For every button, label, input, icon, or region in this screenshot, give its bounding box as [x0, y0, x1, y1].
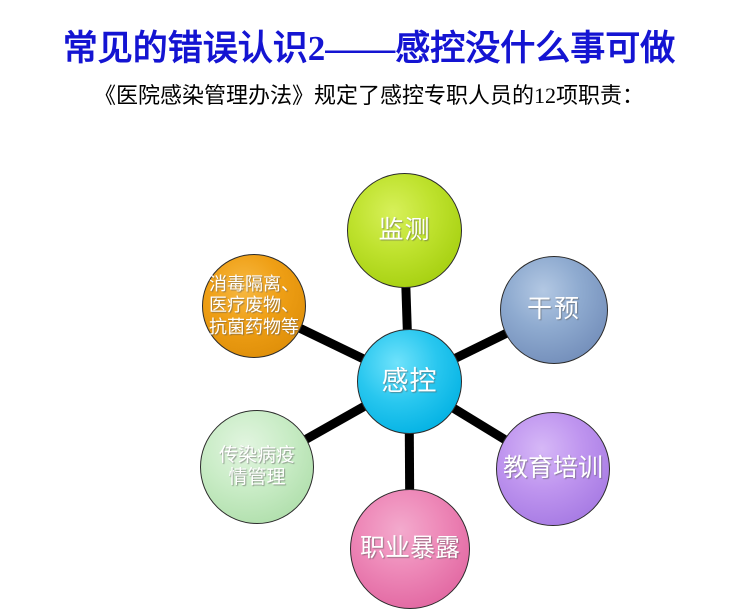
node-intervention[interactable]: 干预: [500, 256, 608, 364]
node-infectious-disease-management[interactable]: 传染病疫情管理: [200, 410, 314, 524]
node-monitoring[interactable]: 监测: [347, 173, 462, 288]
node-occupational-exposure[interactable]: 职业暴露: [350, 489, 470, 609]
node-disinfection-waste-antibiotics[interactable]: 消毒隔离、医疗废物、抗菌药物等: [202, 254, 306, 358]
hub-and-spoke-diagram: 监测 干预 教育培训 职业暴露 传染病疫情管理 消毒隔离、医疗废物、抗菌药物等 …: [0, 0, 738, 612]
node-center-infection-control-label: 感控: [382, 366, 438, 398]
node-occupational-exposure-label: 职业暴露: [360, 534, 460, 564]
node-intervention-label: 干预: [527, 295, 581, 325]
node-center-infection-control[interactable]: 感控: [357, 329, 462, 434]
node-education-training-label: 教育培训: [503, 454, 603, 484]
node-monitoring-label: 监测: [378, 216, 430, 246]
node-disinfection-waste-antibiotics-label: 消毒隔离、医疗废物、抗菌药物等: [203, 274, 305, 338]
node-infectious-disease-management-label: 传染病疫情管理: [213, 445, 301, 490]
node-education-training[interactable]: 教育培训: [496, 412, 610, 526]
